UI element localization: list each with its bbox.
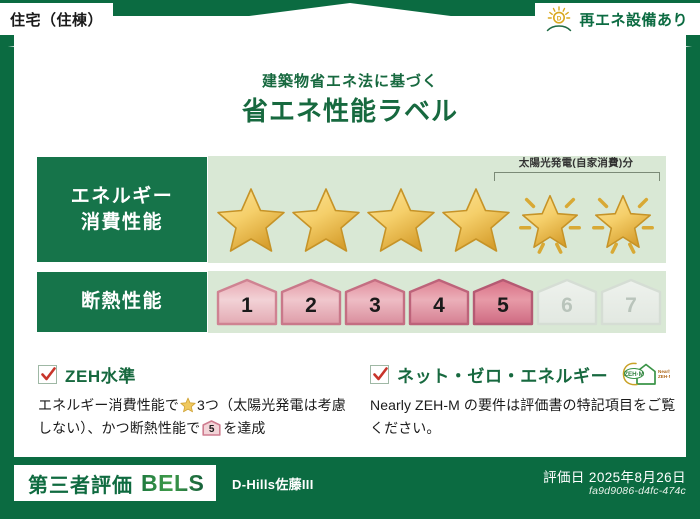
- label-footer: 第三者評価 BELS D-Hills佐藤III 評価日 2025年8月26日 f…: [0, 457, 700, 519]
- energy-label-root: 住宅（住棟） D 再エネ設備あり 建築物省エネ法に基づく 省エ: [0, 0, 700, 519]
- renewable-equipment-tag: D 再エネ設備あり: [535, 3, 700, 35]
- nze-criteria-header: ネット・ゼロ・エネルギー ZEH·M Nearly ZEH·M: [370, 361, 678, 387]
- title-main: 省エネ性能ラベル: [14, 94, 686, 129]
- grade-number: 3: [344, 294, 406, 318]
- energy-performance-label: エネルギー 消費性能: [36, 156, 208, 263]
- zeh-criteria-header: ZEH水準: [38, 361, 346, 387]
- energy-label-line2: 消費性能: [81, 210, 163, 236]
- insulation-rating-area: 1 2 3 4: [208, 271, 666, 333]
- energy-performance-row: エネルギー 消費性能 太陽光発電(自家消費)分: [36, 156, 666, 263]
- nze-title: ネット・ゼロ・エネルギー: [397, 362, 608, 387]
- grade-number: 4: [408, 294, 470, 318]
- building-type-tag: 住宅（住棟）: [0, 3, 113, 35]
- nze-description: Nearly ZEH-M の要件は評価書の特記項目をご覧ください。: [370, 394, 678, 439]
- bels-en-label: BELS: [141, 470, 204, 497]
- zeh-checkbox: [38, 365, 57, 384]
- grade-badge-1: 1: [216, 278, 278, 326]
- solar-portion-bracket: [494, 172, 660, 181]
- grade-number: 2: [280, 294, 342, 318]
- net-zero-energy-criteria-block: ネット・ゼロ・エネルギー ZEH·M Nearly ZEH·M Nearly Z…: [370, 361, 678, 439]
- grade-badge-3: 3: [344, 278, 406, 326]
- zeh-m-logo-icon: ZEH·M Nearly ZEH·M: [620, 361, 670, 387]
- solar-portion-note: 太陽光発電(自家消費)分: [490, 155, 662, 170]
- nze-checkbox: [370, 365, 389, 384]
- building-type-label: 住宅（住棟）: [10, 9, 103, 30]
- insulation-performance-row: 断熱性能 1: [36, 271, 666, 333]
- insulation-label-text: 断熱性能: [81, 289, 163, 315]
- grade-number: 7: [600, 294, 662, 318]
- bels-badge: 第三者評価 BELS: [14, 465, 216, 501]
- star-rating: [214, 178, 662, 261]
- building-name: D-Hills佐藤III: [232, 474, 314, 493]
- title-subtitle: 建築物省エネ法に基づく: [14, 72, 686, 92]
- sun-icon: D: [545, 6, 573, 32]
- svg-text:D: D: [557, 16, 562, 23]
- star-icon: [364, 183, 438, 257]
- label-panel: 建築物省エネ法に基づく 省エネ性能ラベル エネルギー 消費性能 太陽光発電(自家…: [14, 16, 686, 457]
- insulation-performance-label: 断熱性能: [36, 271, 208, 333]
- star-icon-solar: [514, 183, 586, 257]
- grade-badge-2: 2: [280, 278, 342, 326]
- check-icon: [40, 366, 57, 383]
- bels-jp-label: 第三者評価: [28, 469, 133, 498]
- grade-number: 5: [472, 294, 534, 318]
- grade-number: 6: [536, 294, 598, 318]
- renewable-label: 再エネ設備あり: [579, 9, 688, 30]
- grade-badge-6: 6: [536, 278, 598, 326]
- inline-grade-number: 5: [202, 420, 221, 436]
- check-icon: [372, 366, 389, 383]
- zeh-body-part3: を達成: [223, 420, 265, 436]
- svg-text:ZEH·M: ZEH·M: [624, 371, 644, 378]
- evaluation-id: fa9d9086-d4fc-474c: [589, 485, 686, 497]
- grade-scale: 1 2 3 4: [216, 277, 658, 327]
- zeh-body-part1: エネルギー消費性能で: [38, 397, 179, 413]
- grade-badge-4: 4: [408, 278, 470, 326]
- grade-badge-5: 5: [472, 278, 534, 326]
- zeh-title: ZEH水準: [65, 362, 136, 387]
- star-icon: [439, 183, 513, 257]
- star-icon-solar: [587, 183, 659, 257]
- grade-number: 1: [216, 294, 278, 318]
- grade-badge-7: 7: [600, 278, 662, 326]
- zeh-criteria-block: ZEH水準 エネルギー消費性能で3つ（太陽光発電は考慮しない）、かつ断熱性能で5…: [38, 361, 346, 439]
- inline-star-icon: [180, 397, 196, 413]
- energy-label-line1: エネルギー: [71, 184, 174, 210]
- zeh-description: エネルギー消費性能で3つ（太陽光発電は考慮しない）、かつ断熱性能で5を達成: [38, 394, 346, 439]
- energy-rating-area: 太陽光発電(自家消費)分: [208, 156, 666, 263]
- star-icon: [214, 183, 288, 257]
- svg-text:ZEH·M: ZEH·M: [658, 374, 670, 379]
- evaluation-date: 評価日 2025年8月26日: [543, 466, 686, 486]
- page-title: 建築物省エネ法に基づく 省エネ性能ラベル: [14, 72, 686, 129]
- inline-grade-badge: 5: [202, 420, 221, 436]
- star-icon: [289, 183, 363, 257]
